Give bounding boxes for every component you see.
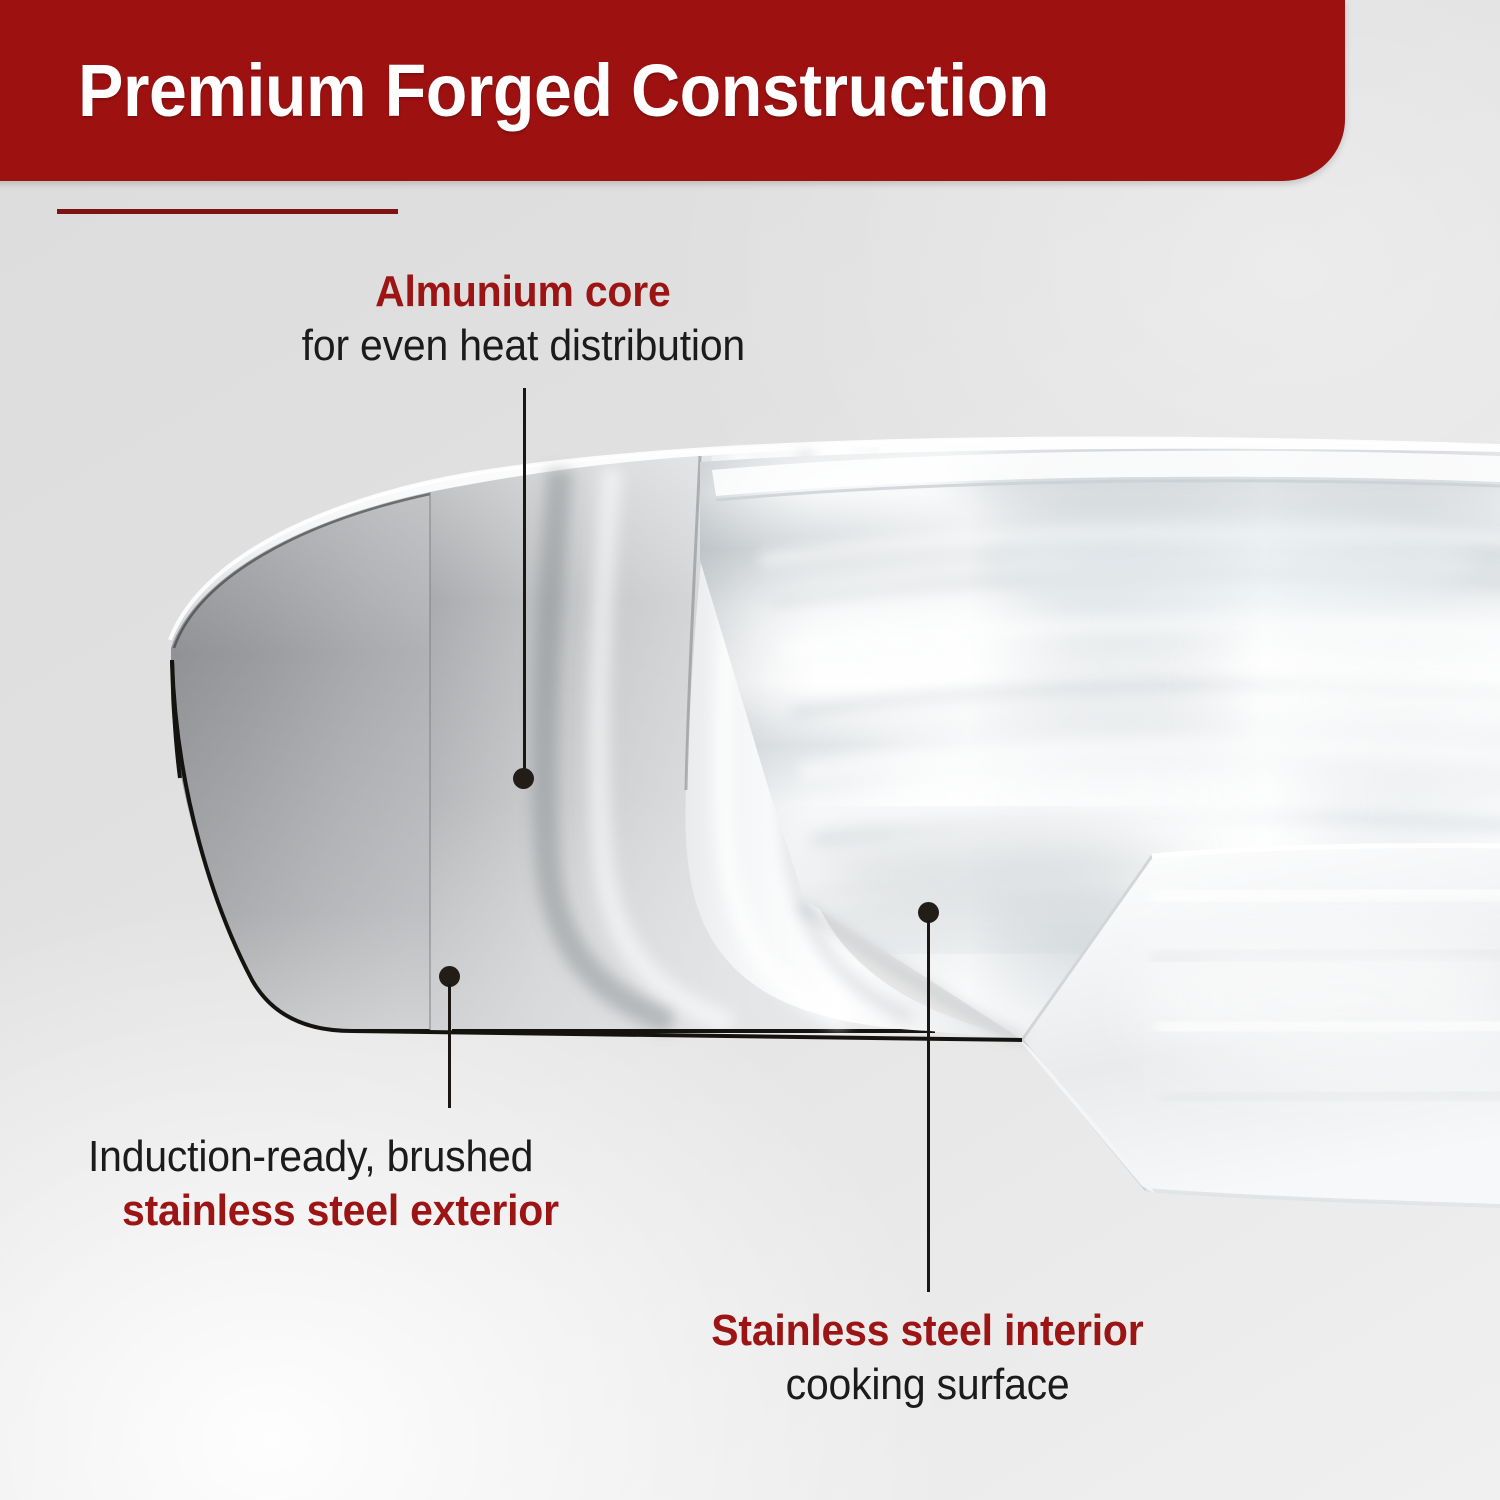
layer-stainless-steel-exterior (171, 492, 452, 1031)
header-banner: Premium Forged Construction (0, 0, 1345, 181)
callout-aluminum-core-title: Almunium core (183, 268, 863, 316)
callout-stainless-interior-subtitle: cooking surface (600, 1361, 1255, 1409)
callout-stainless-interior: Stainless steel interior cooking surface (600, 1307, 1255, 1408)
leader-dot-aluminum-core (513, 768, 534, 789)
accent-divider (57, 209, 398, 214)
callout-stainless-exterior-line2: stainless steel exterior (122, 1187, 788, 1235)
page-title: Premium Forged Construction (78, 48, 1049, 133)
callout-stainless-interior-title: Stainless steel interior (600, 1307, 1255, 1355)
callout-stainless-exterior-line1: Induction-ready, brushed (88, 1133, 788, 1181)
leader-line-aluminum-core (523, 388, 526, 780)
callout-aluminum-core: Almunium core for even heat distribution (183, 268, 863, 369)
callout-aluminum-core-subtitle: for even heat distribution (183, 322, 863, 370)
pan-cutaway-illustration (0, 0, 1500, 1500)
leader-line-stainless-exterior (448, 984, 451, 1108)
callout-stainless-exterior: Induction-ready, brushed stainless steel… (88, 1133, 788, 1234)
infographic-canvas: Premium Forged Construction Almunium cor… (0, 0, 1500, 1500)
leader-line-stainless-interior (927, 920, 930, 1292)
